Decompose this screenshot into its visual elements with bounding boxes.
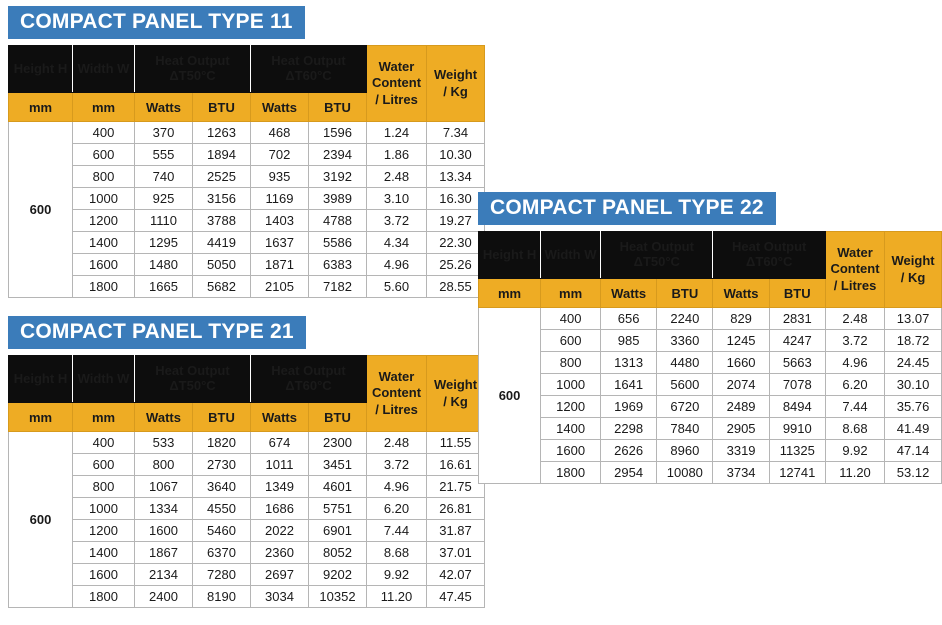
- cell-btu-dt50: 3640: [193, 476, 251, 498]
- cell-weight: 7.34: [427, 122, 485, 144]
- cell-width: 600: [541, 330, 601, 352]
- cell-weight: 22.30: [427, 232, 485, 254]
- cell-width: 1200: [73, 520, 135, 542]
- cell-watts-dt50: 1600: [135, 520, 193, 542]
- cell-btu-dt50: 8960: [657, 440, 713, 462]
- cell-water-content: 2.48: [367, 166, 427, 188]
- cell-watts-dt50: 656: [601, 308, 657, 330]
- cell-weight: 16.30: [427, 188, 485, 210]
- cell-watts-dt50: 1334: [135, 498, 193, 520]
- table-row: 6009853360124542473.7218.72: [479, 330, 942, 352]
- unit-header-btu-dt60: BTU: [309, 93, 367, 122]
- cell-height-value: 600: [9, 122, 73, 298]
- cell-btu-dt50: 8190: [193, 586, 251, 608]
- unit-header-watts-dt50: Watts: [135, 93, 193, 122]
- cell-water-content: 3.72: [825, 330, 884, 352]
- cell-height-value: 600: [9, 432, 73, 608]
- cell-watts-dt60: 935: [251, 166, 309, 188]
- cell-weight: 13.34: [427, 166, 485, 188]
- cell-btu-dt50: 5600: [657, 374, 713, 396]
- cell-width: 1800: [73, 276, 135, 298]
- cell-btu-dt60: 1596: [309, 122, 367, 144]
- cell-water-content: 1.24: [367, 122, 427, 144]
- cell-watts-dt50: 1295: [135, 232, 193, 254]
- cell-water-content: 2.48: [367, 432, 427, 454]
- cell-water-content: 4.96: [367, 476, 427, 498]
- water-content-line2: Content: [372, 385, 421, 400]
- cell-water-content: 7.44: [825, 396, 884, 418]
- cell-watts-dt60: 1686: [251, 498, 309, 520]
- cell-btu-dt60: 6383: [309, 254, 367, 276]
- col-header-heat-output-dt50: Heat Output ΔT50°C: [135, 46, 251, 93]
- cell-height-value: 600: [479, 308, 541, 484]
- table-body: 600400533182067423002.4811.5560080027301…: [9, 432, 485, 608]
- header-row-primary: Height H Width W Heat Output ΔT50°C Heat…: [479, 232, 942, 279]
- unit-header-width-mm: mm: [73, 403, 135, 432]
- col-header-heat-output-dt60: Heat Output ΔT60°C: [251, 46, 367, 93]
- cell-watts-dt50: 2400: [135, 586, 193, 608]
- heat-output-dt50-line2: ΔT50°C: [634, 254, 680, 269]
- cell-watts-dt60: 468: [251, 122, 309, 144]
- cell-watts-dt50: 1480: [135, 254, 193, 276]
- cell-weight: 47.45: [427, 586, 485, 608]
- col-header-weight: Weight / Kg: [885, 232, 942, 308]
- cell-watts-dt50: 1067: [135, 476, 193, 498]
- table-row: 140022987840290599108.6841.49: [479, 418, 942, 440]
- cell-water-content: 11.20: [367, 586, 427, 608]
- panel-type-11-title: COMPACT PANEL TYPE 11: [8, 6, 305, 39]
- cell-width: 1400: [541, 418, 601, 440]
- spec-table-type-21: Height H Width W Heat Output ΔT50°C Heat…: [8, 355, 485, 608]
- cell-btu-dt60: 4247: [769, 330, 825, 352]
- cell-width: 1200: [73, 210, 135, 232]
- cell-water-content: 6.20: [825, 374, 884, 396]
- cell-btu-dt50: 3788: [193, 210, 251, 232]
- cell-watts-dt60: 2360: [251, 542, 309, 564]
- panel-type-11-table-wrap: Height H Width W Heat Output ΔT50°C Heat…: [8, 45, 485, 298]
- cell-water-content: 9.92: [367, 564, 427, 586]
- table-row: 120011103788140347883.7219.27: [9, 210, 485, 232]
- col-header-water-content: Water Content / Litres: [825, 232, 884, 308]
- col-header-heat-output-dt50: Heat Output ΔT50°C: [135, 356, 251, 403]
- heat-output-dt60-line1: Heat Output: [271, 53, 345, 68]
- table-row: 6008002730101134513.7216.61: [9, 454, 485, 476]
- cell-watts-dt50: 1641: [601, 374, 657, 396]
- cell-watts-dt60: 1169: [251, 188, 309, 210]
- col-header-width: Width W: [73, 46, 135, 93]
- cell-btu-dt50: 2240: [657, 308, 713, 330]
- table-row: 140012954419163755864.3422.30: [9, 232, 485, 254]
- unit-header-watts-dt60: Watts: [713, 279, 769, 308]
- cell-btu-dt60: 3192: [309, 166, 367, 188]
- cell-btu-dt60: 3989: [309, 188, 367, 210]
- cell-weight: 42.07: [427, 564, 485, 586]
- cell-width: 800: [73, 166, 135, 188]
- col-header-heat-output-dt50: Heat Output ΔT50°C: [601, 232, 713, 279]
- unit-header-watts-dt60: Watts: [251, 403, 309, 432]
- cell-weight: 35.76: [885, 396, 942, 418]
- heat-output-dt60-line1: Heat Output: [732, 239, 806, 254]
- cell-watts-dt50: 1110: [135, 210, 193, 232]
- cell-watts-dt50: 370: [135, 122, 193, 144]
- cell-watts-dt60: 1871: [251, 254, 309, 276]
- cell-btu-dt50: 5460: [193, 520, 251, 542]
- col-header-height: Height H: [9, 46, 73, 93]
- table-row: 600555189470223941.8610.30: [9, 144, 485, 166]
- cell-watts-dt60: 674: [251, 432, 309, 454]
- cell-width: 1400: [73, 542, 135, 564]
- unit-header-btu-dt60: BTU: [769, 279, 825, 308]
- cell-btu-dt60: 9910: [769, 418, 825, 440]
- cell-watts-dt50: 800: [135, 454, 193, 476]
- cell-weight: 21.75: [427, 476, 485, 498]
- cell-width: 1600: [541, 440, 601, 462]
- table-row: 100013344550168657516.2026.81: [9, 498, 485, 520]
- table-row: 120016005460202269017.4431.87: [9, 520, 485, 542]
- col-header-width: Width W: [73, 356, 135, 403]
- table-row: 160021347280269792029.9242.07: [9, 564, 485, 586]
- cell-weight: 30.10: [885, 374, 942, 396]
- cell-weight: 10.30: [427, 144, 485, 166]
- cell-btu-dt50: 10080: [657, 462, 713, 484]
- table-header: Height H Width W Heat Output ΔT50°C Heat…: [9, 46, 485, 122]
- cell-width: 600: [73, 144, 135, 166]
- cell-width: 400: [541, 308, 601, 330]
- water-content-line1: Water: [837, 245, 873, 260]
- cell-btu-dt50: 3360: [657, 330, 713, 352]
- cell-btu-dt60: 11325: [769, 440, 825, 462]
- cell-btu-dt60: 6901: [309, 520, 367, 542]
- cell-btu-dt60: 9202: [309, 564, 367, 586]
- table-row: 180029541008037341274111.2053.12: [479, 462, 942, 484]
- heat-output-dt50-line2: ΔT50°C: [169, 68, 215, 83]
- panel-type-22-section: COMPACT PANEL TYPE 22 Height H Width W H…: [478, 192, 942, 484]
- cell-watts-dt50: 2954: [601, 462, 657, 484]
- unit-header-btu-dt60: BTU: [309, 403, 367, 432]
- table-row: 18002400819030341035211.2047.45: [9, 586, 485, 608]
- cell-btu-dt50: 2730: [193, 454, 251, 476]
- cell-btu-dt60: 5663: [769, 352, 825, 374]
- cell-btu-dt60: 5751: [309, 498, 367, 520]
- table-row: 140018676370236080528.6837.01: [9, 542, 485, 564]
- cell-btu-dt50: 4550: [193, 498, 251, 520]
- cell-width: 1800: [73, 586, 135, 608]
- cell-width: 1800: [541, 462, 601, 484]
- col-header-height: Height H: [479, 232, 541, 279]
- col-header-heat-output-dt60: Heat Output ΔT60°C: [251, 356, 367, 403]
- cell-watts-dt60: 1637: [251, 232, 309, 254]
- col-header-water-content: Water Content / Litres: [367, 356, 427, 432]
- cell-weight: 16.61: [427, 454, 485, 476]
- cell-width: 1200: [541, 396, 601, 418]
- spec-table-type-22: Height H Width W Heat Output ΔT50°C Heat…: [478, 231, 942, 484]
- header-row-primary: Height H Width W Heat Output ΔT50°C Heat…: [9, 356, 485, 403]
- cell-watts-dt50: 1867: [135, 542, 193, 564]
- col-header-height: Height H: [9, 356, 73, 403]
- heat-output-dt60-line1: Heat Output: [271, 363, 345, 378]
- cell-watts-dt50: 925: [135, 188, 193, 210]
- table-row: 120019696720248984947.4435.76: [479, 396, 942, 418]
- cell-water-content: 2.48: [825, 308, 884, 330]
- cell-water-content: 8.68: [825, 418, 884, 440]
- cell-watts-dt50: 985: [601, 330, 657, 352]
- cell-btu-dt60: 7182: [309, 276, 367, 298]
- cell-width: 600: [73, 454, 135, 476]
- weight-line1: Weight: [434, 67, 477, 82]
- table-header: Height H Width W Heat Output ΔT50°C Heat…: [479, 232, 942, 308]
- cell-btu-dt60: 4788: [309, 210, 367, 232]
- cell-btu-dt50: 1894: [193, 144, 251, 166]
- heat-output-dt60-line2: ΔT60°C: [746, 254, 792, 269]
- cell-width: 800: [73, 476, 135, 498]
- table-body: 600400370126346815961.247.34600555189470…: [9, 122, 485, 298]
- cell-btu-dt50: 7280: [193, 564, 251, 586]
- cell-watts-dt60: 2697: [251, 564, 309, 586]
- unit-header-height-mm: mm: [9, 93, 73, 122]
- cell-btu-dt50: 3156: [193, 188, 251, 210]
- weight-line2: / Kg: [901, 270, 926, 285]
- col-header-weight: Weight / Kg: [427, 46, 485, 122]
- cell-watts-dt60: 1245: [713, 330, 769, 352]
- unit-header-height-mm: mm: [479, 279, 541, 308]
- spec-table-type-11: Height H Width W Heat Output ΔT50°C Heat…: [8, 45, 485, 298]
- heat-output-dt60-line2: ΔT60°C: [285, 68, 331, 83]
- cell-watts-dt60: 1660: [713, 352, 769, 374]
- cell-btu-dt60: 8494: [769, 396, 825, 418]
- cell-btu-dt50: 5050: [193, 254, 251, 276]
- heat-output-dt50-line1: Heat Output: [155, 53, 229, 68]
- header-row-primary: Height H Width W Heat Output ΔT50°C Heat…: [9, 46, 485, 93]
- col-header-weight: Weight / Kg: [427, 356, 485, 432]
- cell-watts-dt60: 2905: [713, 418, 769, 440]
- water-content-line1: Water: [379, 369, 415, 384]
- cell-watts-dt60: 2489: [713, 396, 769, 418]
- cell-width: 400: [73, 122, 135, 144]
- cell-btu-dt60: 4601: [309, 476, 367, 498]
- table-row: 10009253156116939893.1016.30: [9, 188, 485, 210]
- water-content-line1: Water: [379, 59, 415, 74]
- unit-header-watts-dt60: Watts: [251, 93, 309, 122]
- table-row: 80013134480166056634.9624.45: [479, 352, 942, 374]
- cell-btu-dt60: 2300: [309, 432, 367, 454]
- cell-weight: 13.07: [885, 308, 942, 330]
- cell-watts-dt50: 533: [135, 432, 193, 454]
- cell-btu-dt50: 4419: [193, 232, 251, 254]
- cell-weight: 25.26: [427, 254, 485, 276]
- cell-water-content: 8.68: [367, 542, 427, 564]
- panel-type-21-table-wrap: Height H Width W Heat Output ΔT50°C Heat…: [8, 355, 485, 608]
- unit-header-width-mm: mm: [541, 279, 601, 308]
- cell-btu-dt60: 12741: [769, 462, 825, 484]
- cell-watts-dt60: 702: [251, 144, 309, 166]
- unit-header-btu-dt50: BTU: [193, 93, 251, 122]
- cell-btu-dt50: 6370: [193, 542, 251, 564]
- cell-watts-dt50: 1313: [601, 352, 657, 374]
- cell-water-content: 3.10: [367, 188, 427, 210]
- cell-btu-dt60: 8052: [309, 542, 367, 564]
- cell-water-content: 4.96: [367, 254, 427, 276]
- heat-output-dt50-line2: ΔT50°C: [169, 378, 215, 393]
- cell-watts-dt50: 555: [135, 144, 193, 166]
- heat-output-dt50-line1: Heat Output: [155, 363, 229, 378]
- table-body: 600400656224082928312.4813.0760098533601…: [479, 308, 942, 484]
- heat-output-dt50-line1: Heat Output: [620, 239, 694, 254]
- cell-btu-dt50: 6720: [657, 396, 713, 418]
- cell-weight: 41.49: [885, 418, 942, 440]
- cell-btu-dt50: 5682: [193, 276, 251, 298]
- cell-watts-dt60: 3319: [713, 440, 769, 462]
- weight-line1: Weight: [434, 377, 477, 392]
- cell-width: 1000: [73, 188, 135, 210]
- water-content-line2: Content: [372, 75, 421, 90]
- panel-type-22-table-wrap: Height H Width W Heat Output ΔT50°C Heat…: [478, 231, 942, 484]
- weight-line2: / Kg: [443, 394, 468, 409]
- unit-header-watts-dt50: Watts: [135, 403, 193, 432]
- table-row: 1600262689603319113259.9247.14: [479, 440, 942, 462]
- cell-watts-dt50: 1969: [601, 396, 657, 418]
- table-row: 600400533182067423002.4811.55: [9, 432, 485, 454]
- cell-btu-dt60: 5586: [309, 232, 367, 254]
- table-row: 180016655682210571825.6028.55: [9, 276, 485, 298]
- cell-watts-dt60: 2074: [713, 374, 769, 396]
- cell-weight: 19.27: [427, 210, 485, 232]
- cell-width: 1600: [73, 564, 135, 586]
- cell-btu-dt60: 7078: [769, 374, 825, 396]
- col-header-water-content: Water Content / Litres: [367, 46, 427, 122]
- cell-watts-dt50: 2298: [601, 418, 657, 440]
- cell-btu-dt50: 2525: [193, 166, 251, 188]
- weight-line1: Weight: [892, 253, 935, 268]
- cell-width: 400: [73, 432, 135, 454]
- table-row: 80010673640134946014.9621.75: [9, 476, 485, 498]
- cell-watts-dt50: 1665: [135, 276, 193, 298]
- cell-weight: 37.01: [427, 542, 485, 564]
- unit-header-btu-dt50: BTU: [657, 279, 713, 308]
- cell-weight: 28.55: [427, 276, 485, 298]
- cell-btu-dt60: 3451: [309, 454, 367, 476]
- cell-watts-dt60: 3734: [713, 462, 769, 484]
- cell-btu-dt50: 1820: [193, 432, 251, 454]
- cell-width: 1000: [541, 374, 601, 396]
- cell-watts-dt60: 1403: [251, 210, 309, 232]
- cell-btu-dt60: 10352: [309, 586, 367, 608]
- cell-weight: 47.14: [885, 440, 942, 462]
- cell-btu-dt50: 4480: [657, 352, 713, 374]
- cell-weight: 31.87: [427, 520, 485, 542]
- col-header-width: Width W: [541, 232, 601, 279]
- cell-water-content: 3.72: [367, 210, 427, 232]
- cell-watts-dt60: 1349: [251, 476, 309, 498]
- cell-watts-dt50: 2134: [135, 564, 193, 586]
- water-content-line3: / Litres: [375, 92, 418, 107]
- cell-width: 1000: [73, 498, 135, 520]
- cell-water-content: 5.60: [367, 276, 427, 298]
- unit-header-btu-dt50: BTU: [193, 403, 251, 432]
- cell-width: 800: [541, 352, 601, 374]
- heat-output-dt60-line2: ΔT60°C: [285, 378, 331, 393]
- table-row: 100016415600207470786.2030.10: [479, 374, 942, 396]
- cell-weight: 53.12: [885, 462, 942, 484]
- water-content-line3: / Litres: [834, 278, 877, 293]
- cell-water-content: 1.86: [367, 144, 427, 166]
- cell-btu-dt50: 1263: [193, 122, 251, 144]
- cell-watts-dt50: 740: [135, 166, 193, 188]
- cell-water-content: 7.44: [367, 520, 427, 542]
- cell-btu-dt60: 2831: [769, 308, 825, 330]
- cell-water-content: 11.20: [825, 462, 884, 484]
- table-header: Height H Width W Heat Output ΔT50°C Heat…: [9, 356, 485, 432]
- unit-header-width-mm: mm: [73, 93, 135, 122]
- cell-water-content: 4.96: [825, 352, 884, 374]
- cell-water-content: 3.72: [367, 454, 427, 476]
- cell-watts-dt50: 2626: [601, 440, 657, 462]
- col-header-heat-output-dt60: Heat Output ΔT60°C: [713, 232, 825, 279]
- panel-type-21-section: COMPACT PANEL TYPE 21 Height H Width W H…: [8, 316, 485, 608]
- table-row: 600400656224082928312.4813.07: [479, 308, 942, 330]
- panel-type-22-title: COMPACT PANEL TYPE 22: [478, 192, 776, 225]
- cell-btu-dt50: 7840: [657, 418, 713, 440]
- cell-watts-dt60: 3034: [251, 586, 309, 608]
- unit-header-height-mm: mm: [9, 403, 73, 432]
- water-content-line2: Content: [830, 261, 879, 276]
- cell-btu-dt60: 2394: [309, 144, 367, 166]
- cell-weight: 24.45: [885, 352, 942, 374]
- unit-header-watts-dt50: Watts: [601, 279, 657, 308]
- cell-watts-dt60: 2105: [251, 276, 309, 298]
- cell-water-content: 6.20: [367, 498, 427, 520]
- panel-type-21-title: COMPACT PANEL TYPE 21: [8, 316, 306, 349]
- cell-width: 1600: [73, 254, 135, 276]
- cell-weight: 18.72: [885, 330, 942, 352]
- table-row: 600400370126346815961.247.34: [9, 122, 485, 144]
- cell-water-content: 9.92: [825, 440, 884, 462]
- cell-watts-dt60: 2022: [251, 520, 309, 542]
- cell-watts-dt60: 1011: [251, 454, 309, 476]
- weight-line2: / Kg: [443, 84, 468, 99]
- cell-weight: 11.55: [427, 432, 485, 454]
- table-row: 800740252593531922.4813.34: [9, 166, 485, 188]
- panel-type-11-section: COMPACT PANEL TYPE 11 Height H Width W H…: [8, 6, 485, 298]
- cell-width: 1400: [73, 232, 135, 254]
- cell-water-content: 4.34: [367, 232, 427, 254]
- table-row: 160014805050187163834.9625.26: [9, 254, 485, 276]
- cell-watts-dt60: 829: [713, 308, 769, 330]
- cell-weight: 26.81: [427, 498, 485, 520]
- water-content-line3: / Litres: [375, 402, 418, 417]
